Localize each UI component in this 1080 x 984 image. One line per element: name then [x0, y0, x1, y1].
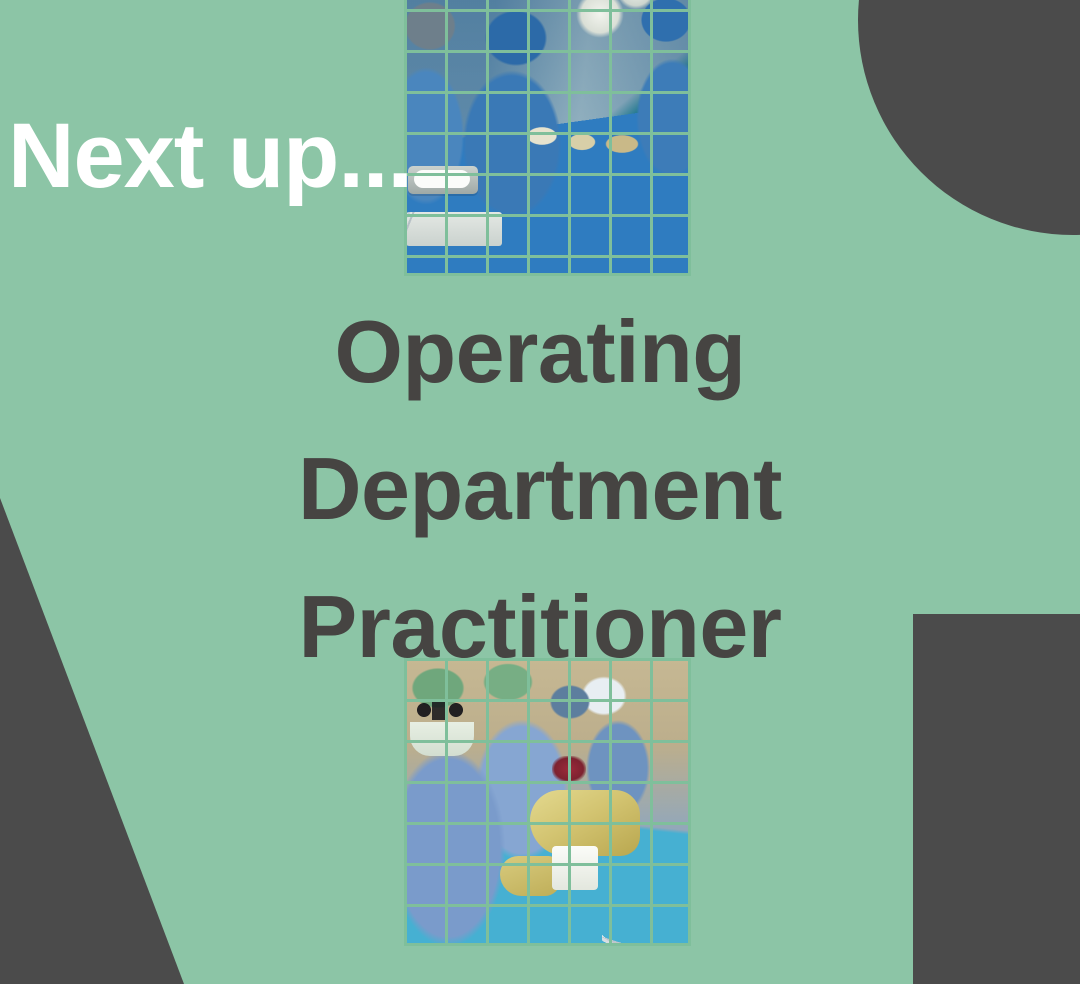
- surgical-site-bottom: [552, 756, 586, 782]
- surgeon-glasses-icon: [412, 700, 478, 720]
- decorative-circle-top-right: [858, 0, 1080, 235]
- operating-theatre-surgery-photo-top: [404, 0, 691, 276]
- operating-theatre-surgery-photo-bottom: [404, 658, 691, 946]
- surgeon-hands-top: [522, 118, 642, 158]
- slide-title-line-1: Operating: [0, 283, 1080, 420]
- yellow-surgical-glove-secondary: [500, 856, 560, 896]
- slide-title: Operating Department Practitioner: [0, 283, 1080, 695]
- surgical-mask-icon: [410, 722, 474, 756]
- surgery-scene-top: [404, 0, 691, 276]
- slide-title-line-3: Practitioner: [0, 558, 1080, 695]
- photo-top-artwork: [404, 0, 691, 276]
- slide-eyebrow-next-up: Next up...: [8, 108, 412, 205]
- photo-bottom-artwork: [404, 658, 691, 946]
- surgical-instruments-top: [406, 212, 502, 246]
- surgery-scene-bottom: [404, 658, 691, 946]
- steel-surgical-instruments: [602, 840, 691, 944]
- presentation-slide: Next up... Operating Department Practiti…: [0, 0, 1080, 984]
- surgical-swab-pad: [552, 846, 598, 890]
- instrument-tray-top: [408, 166, 478, 194]
- slide-title-line-2: Department: [0, 420, 1080, 557]
